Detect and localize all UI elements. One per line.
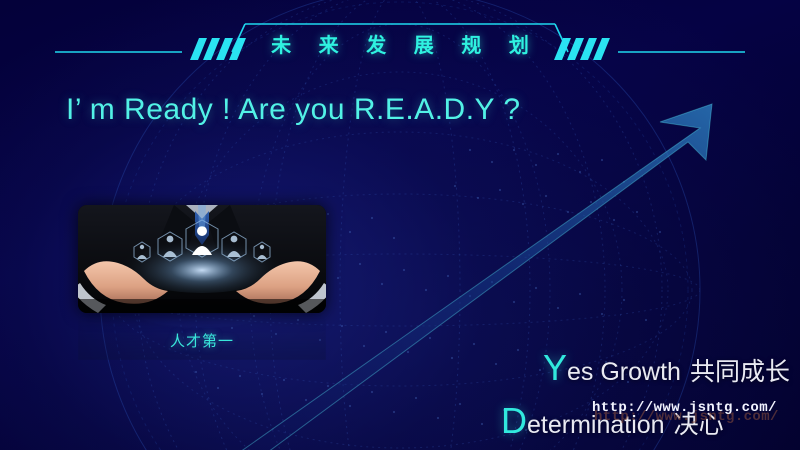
ready-initial: D xyxy=(501,400,527,441)
ready-initial: Y xyxy=(543,347,567,388)
page-title: 未 来 发 展 规 划 xyxy=(0,29,800,58)
ready-item-yes: Yes Growth共同成长 xyxy=(543,352,790,388)
watermark-url: http://www.jsntg.com/ xyxy=(592,400,777,416)
photo-card xyxy=(78,205,326,313)
ready-word: es Growth xyxy=(567,358,681,386)
slide: 未 来 发 展 规 划 I’ m Ready ! Are you R.E.A.D… xyxy=(0,0,800,450)
hands-team-photo xyxy=(78,205,326,313)
headline: I’ m Ready ! Are you R.E.A.D.Y ? xyxy=(66,93,521,127)
header-band: 未 来 发 展 规 划 xyxy=(0,0,800,86)
photo-caption: 人才第一 xyxy=(78,330,326,351)
ready-translation: 共同成长 xyxy=(690,358,790,386)
